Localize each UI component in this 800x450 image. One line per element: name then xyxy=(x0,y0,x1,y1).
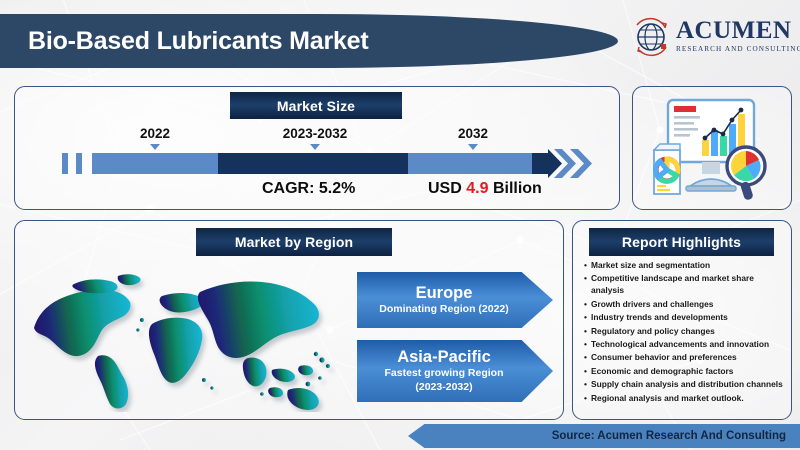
source-footer: Source: Acumen Research And Consulting xyxy=(408,424,800,448)
cagr-value: CAGR: 5.2% xyxy=(262,180,355,198)
bullet-icon: • xyxy=(580,352,591,364)
brand-logo[interactable]: ACUMEN RESEARCH AND CONSULTING xyxy=(630,16,790,64)
report-highlight-item: •Market size and segmentation xyxy=(580,260,784,272)
timeline-range-2023-2032: 2023-2032 xyxy=(250,126,380,141)
report-highlight-text: Industry trends and developments xyxy=(591,312,784,324)
report-highlight-item: •Regional analysis and market outlook. xyxy=(580,393,784,405)
report-highlight-text: Technological advancements and innovatio… xyxy=(591,339,784,351)
report-highlight-item: •Consumer behavior and preferences xyxy=(580,352,784,364)
report-highlight-item: •Competitive landscape and market share … xyxy=(580,273,784,297)
market-value: USD 4.9 Billion xyxy=(428,180,542,198)
world-map xyxy=(22,262,352,412)
bullet-icon: • xyxy=(580,339,591,351)
bullet-icon: • xyxy=(580,312,591,324)
market-value-number: 4.9 xyxy=(466,180,488,197)
region-badge-europe-title: Europe xyxy=(416,284,473,303)
market-by-region-heading: Market by Region xyxy=(196,228,392,256)
timeline-segment-2032 xyxy=(408,153,534,174)
report-highlight-item: •Industry trends and developments xyxy=(580,312,784,324)
timeline-year-2022: 2022 xyxy=(112,126,198,141)
bullet-icon: • xyxy=(580,299,591,311)
report-highlight-text: Economic and demographic factors xyxy=(591,366,784,378)
report-highlight-item: •Technological advancements and innovati… xyxy=(580,339,784,351)
bullet-icon: • xyxy=(580,379,591,391)
timeline-year-2032: 2032 xyxy=(430,126,516,141)
timeline-segment-forecast xyxy=(218,153,408,174)
timeline-arrowhead xyxy=(532,149,602,178)
bullet-icon: • xyxy=(580,260,591,272)
report-highlights-list: •Market size and segmentation•Competitiv… xyxy=(580,260,784,406)
market-value-suffix: Billion xyxy=(493,180,542,197)
header-bar: Bio-Based Lubricants Market xyxy=(0,14,618,68)
timeline-segment-2022 xyxy=(92,153,218,174)
infographic-page: Bio-Based Lubricants Market ACUMEN RESEA… xyxy=(0,0,800,450)
bullet-icon: • xyxy=(580,366,591,378)
market-value-prefix: USD xyxy=(428,180,462,197)
report-highlight-text: Market size and segmentation xyxy=(591,260,784,272)
market-size-heading: Market Size xyxy=(230,92,402,119)
bullet-icon: • xyxy=(580,273,591,285)
timeline-caret-2032 xyxy=(468,144,478,150)
report-highlight-text: Supply chain analysis and distribution c… xyxy=(591,379,784,391)
report-highlight-item: •Supply chain analysis and distribution … xyxy=(580,379,784,391)
timeline-caret-2023-2032 xyxy=(310,144,320,150)
report-highlight-text: Regional analysis and market outlook. xyxy=(591,393,784,405)
report-highlight-text: Competitive landscape and market share a… xyxy=(591,273,784,297)
region-badge-europe[interactable]: Europe Dominating Region (2022) xyxy=(357,272,553,328)
report-highlight-text: Consumer behavior and preferences xyxy=(591,352,784,364)
region-badge-asia-pacific[interactable]: Asia-Pacific Fastest growing Region (202… xyxy=(357,340,553,402)
report-highlight-text: Regulatory and policy changes xyxy=(591,326,784,338)
region-badge-asia-pacific-subtitle: Fastest growing Region (2023-2032) xyxy=(384,367,503,393)
logo-brand-text: ACUMEN xyxy=(676,18,800,43)
bullet-icon: • xyxy=(580,393,591,405)
timeline-tick-2 xyxy=(76,153,82,174)
page-title: Bio-Based Lubricants Market xyxy=(28,27,369,56)
region-badge-asia-pacific-title: Asia-Pacific xyxy=(397,348,491,367)
source-text: Source: Acumen Research And Consulting xyxy=(552,430,786,442)
report-highlight-text: Growth drivers and challenges xyxy=(591,299,784,311)
globe-icon xyxy=(630,17,674,61)
bullet-icon: • xyxy=(580,326,591,338)
report-highlight-item: •Regulatory and policy changes xyxy=(580,326,784,338)
report-highlights-heading: Report Highlights xyxy=(589,228,774,256)
region-badge-europe-subtitle: Dominating Region (2022) xyxy=(379,303,509,316)
report-highlight-item: •Growth drivers and challenges xyxy=(580,299,784,311)
report-highlight-item: •Economic and demographic factors xyxy=(580,366,784,378)
logo-tagline: RESEARCH AND CONSULTING xyxy=(676,45,800,53)
timeline-caret-2022 xyxy=(150,144,160,150)
analytics-dashboard-illustration xyxy=(646,94,776,202)
timeline-tick-1 xyxy=(62,153,68,174)
